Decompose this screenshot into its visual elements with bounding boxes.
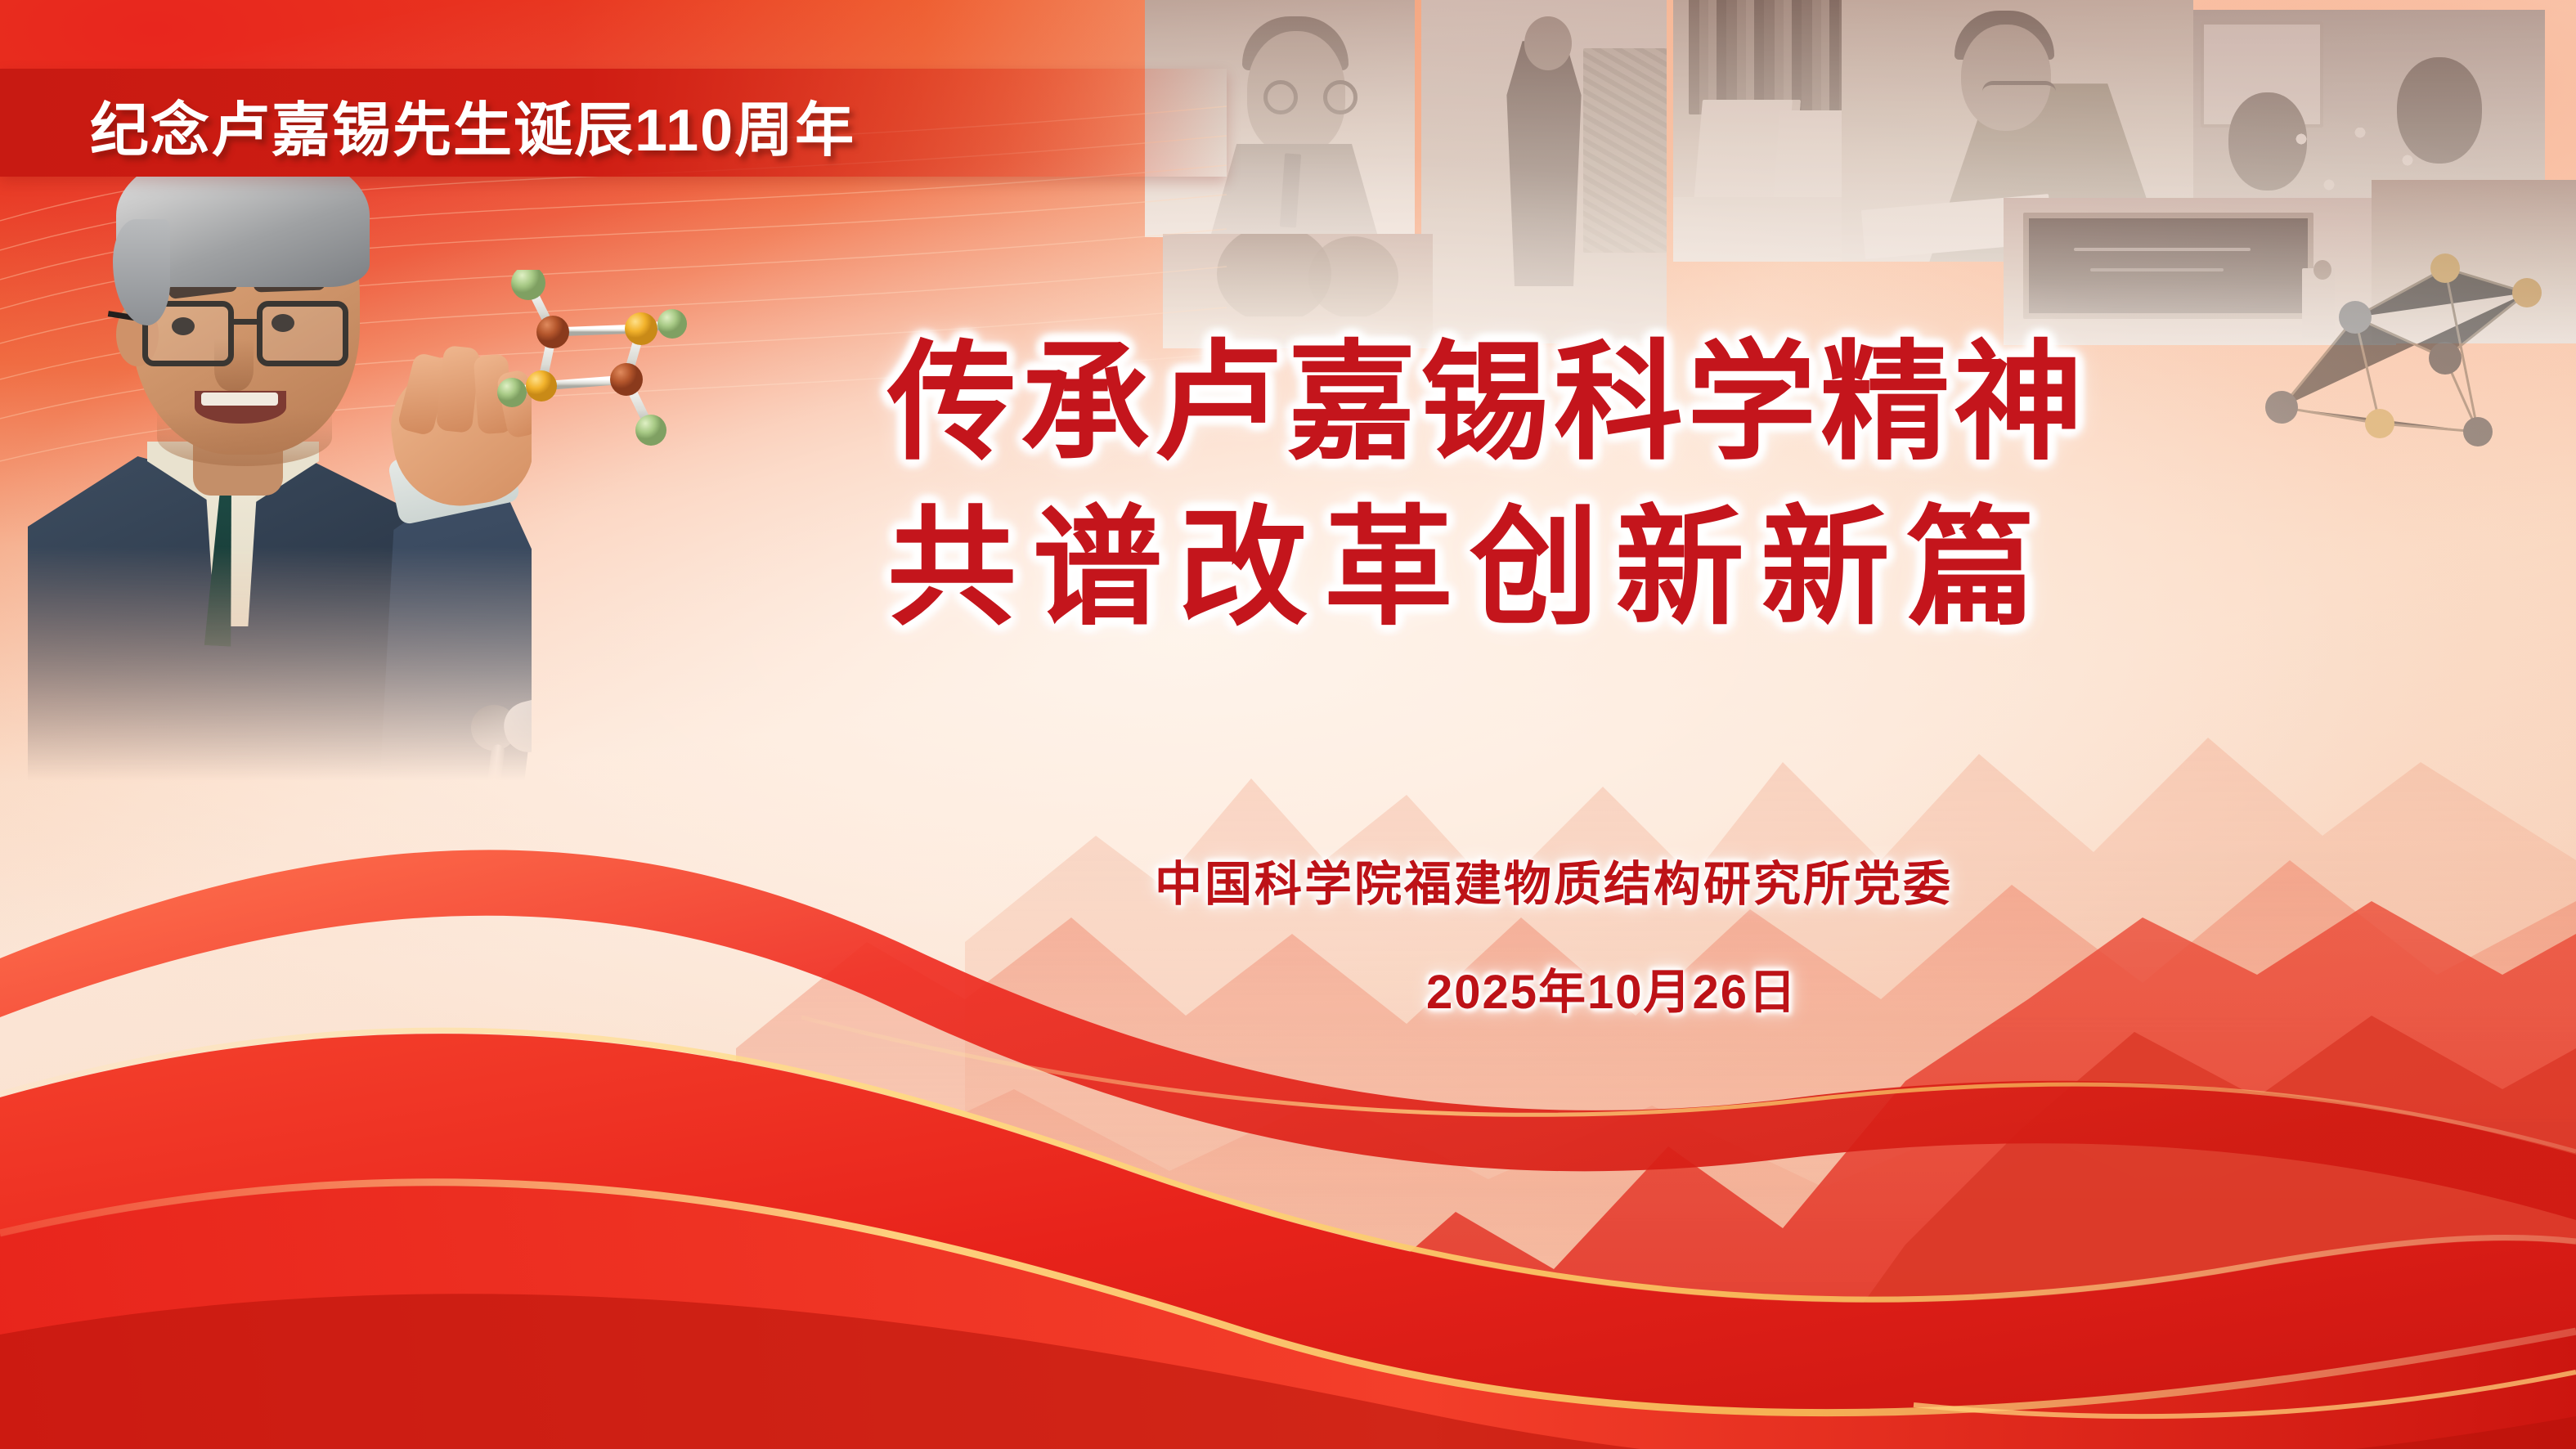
poster-canvas: 纪念卢嘉锡先生诞辰110周年 传承卢嘉锡科学精神 共谱改革创新新篇 中国科学院福…: [0, 0, 2576, 1449]
main-title: 传承卢嘉锡科学精神 共谱改革创新新篇: [887, 321, 2457, 651]
anniversary-banner-text: 纪念卢嘉锡先生诞辰110周年: [90, 82, 855, 168]
poster-content: 纪念卢嘉锡先生诞辰110周年 传承卢嘉锡科学精神 共谱改革创新新篇 中国科学院福…: [0, 0, 2576, 1449]
main-title-line-2: 共谱改革创新新篇: [887, 486, 2457, 651]
main-title-line-1: 传承卢嘉锡科学精神: [887, 321, 2457, 486]
event-date: 2025年10月26日: [1426, 953, 1797, 1022]
organization-name: 中国科学院福建物质结构研究所党委: [1155, 846, 1953, 914]
